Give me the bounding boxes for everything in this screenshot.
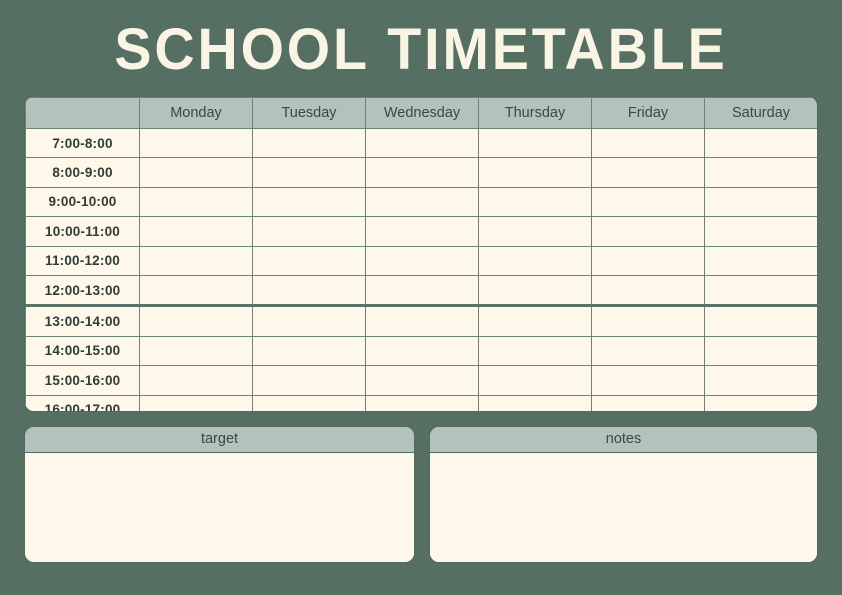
timetable-slot-cell[interactable] [253,217,366,246]
timetable-slot-cell[interactable] [592,366,705,395]
target-panel-title: target [25,427,414,453]
timetable-slot-cell[interactable] [705,366,818,395]
timetable-slot-cell[interactable] [479,395,592,411]
timetable-slot-cell[interactable] [705,217,818,246]
timetable-slot-cell[interactable] [140,306,253,336]
timetable-slot-cell[interactable] [140,366,253,395]
timetable-slot-cell[interactable] [705,306,818,336]
time-label: 12:00-13:00 [26,275,140,305]
target-panel: target [25,427,414,562]
timetable-slot-cell[interactable] [592,336,705,365]
timetable-slot-cell[interactable] [140,336,253,365]
timetable-row: 12:00-13:00 [26,275,818,305]
timetable-slot-cell[interactable] [479,275,592,305]
timetable-slot-cell[interactable] [592,129,705,158]
timetable-slot-cell[interactable] [592,246,705,275]
timetable-slot-cell[interactable] [366,129,479,158]
timetable-slot-cell[interactable] [366,246,479,275]
timetable-slot-cell[interactable] [592,158,705,187]
target-panel-body[interactable] [25,453,414,562]
timetable-slot-cell[interactable] [140,187,253,216]
timetable-slot-cell[interactable] [479,129,592,158]
timetable-slot-cell[interactable] [479,158,592,187]
timetable-row: 7:00-8:00 [26,129,818,158]
timetable-slot-cell[interactable] [479,217,592,246]
timetable-slot-cell[interactable] [705,336,818,365]
day-header-saturday[interactable]: Saturday [705,98,818,129]
time-label: 15:00-16:00 [26,366,140,395]
timetable-slot-cell[interactable] [140,395,253,411]
timetable-row: 15:00-16:00 [26,366,818,395]
timetable-slot-cell[interactable] [592,395,705,411]
time-label: 11:00-12:00 [26,246,140,275]
timetable-slot-cell[interactable] [592,275,705,305]
day-header-wednesday[interactable]: Wednesday [366,98,479,129]
timetable-slot-cell[interactable] [366,275,479,305]
time-label: 10:00-11:00 [26,217,140,246]
timetable-slot-cell[interactable] [366,158,479,187]
timetable-slot-cell[interactable] [253,366,366,395]
timetable-slot-cell[interactable] [253,187,366,216]
timetable-slot-cell[interactable] [366,336,479,365]
timetable-slot-cell[interactable] [253,336,366,365]
timetable-row: 8:00-9:00 [26,158,818,187]
timetable-slot-cell[interactable] [705,187,818,216]
day-header-friday[interactable]: Friday [592,98,705,129]
timetable-row: 11:00-12:00 [26,246,818,275]
timetable-slot-cell[interactable] [592,187,705,216]
timetable-row: 16:00-17:00 [26,395,818,411]
day-header-thursday[interactable]: Thursday [479,98,592,129]
timetable-slot-cell[interactable] [479,187,592,216]
timetable-slot-cell[interactable] [140,217,253,246]
timetable-container: MondayTuesdayWednesdayThursdayFridaySatu… [25,97,817,411]
timetable-slot-cell[interactable] [479,246,592,275]
timetable-slot-cell[interactable] [705,158,818,187]
timetable-slot-cell[interactable] [366,366,479,395]
time-label: 16:00-17:00 [26,395,140,411]
timetable-slot-cell[interactable] [705,275,818,305]
notes-panel: notes [430,427,817,562]
time-label: 14:00-15:00 [26,336,140,365]
timetable-row: 14:00-15:00 [26,336,818,365]
timetable-slot-cell[interactable] [140,275,253,305]
timetable-slot-cell[interactable] [140,129,253,158]
time-label: 8:00-9:00 [26,158,140,187]
timetable-slot-cell[interactable] [140,246,253,275]
timetable-slot-cell[interactable] [705,395,818,411]
notes-panel-body[interactable] [430,453,817,562]
timetable-slot-cell[interactable] [253,129,366,158]
timetable-slot-cell[interactable] [479,366,592,395]
timetable-slot-cell[interactable] [140,158,253,187]
timetable-slot-cell[interactable] [479,306,592,336]
timetable-slot-cell[interactable] [253,275,366,305]
timetable-slot-cell[interactable] [366,395,479,411]
page-title: SCHOOL TIMETABLE [17,18,825,82]
timetable-slot-cell[interactable] [253,158,366,187]
timetable-slot-cell[interactable] [366,306,479,336]
timetable-slot-cell[interactable] [253,306,366,336]
timetable: MondayTuesdayWednesdayThursdayFridaySatu… [25,97,817,411]
timetable-slot-cell[interactable] [479,336,592,365]
timetable-slot-cell[interactable] [705,246,818,275]
timetable-slot-cell[interactable] [705,129,818,158]
notes-panel-title: notes [430,427,817,453]
timetable-header-row: MondayTuesdayWednesdayThursdayFridaySatu… [26,98,818,129]
timetable-row: 10:00-11:00 [26,217,818,246]
time-label: 7:00-8:00 [26,129,140,158]
timetable-row: 13:00-14:00 [26,306,818,336]
timetable-slot-cell[interactable] [366,187,479,216]
timetable-slot-cell[interactable] [592,217,705,246]
timetable-slot-cell[interactable] [592,306,705,336]
timetable-slot-cell[interactable] [366,217,479,246]
timetable-row: 9:00-10:00 [26,187,818,216]
day-header-tuesday[interactable]: Tuesday [253,98,366,129]
timetable-slot-cell[interactable] [253,246,366,275]
time-label: 13:00-14:00 [26,306,140,336]
timetable-corner-header [26,98,140,129]
day-header-monday[interactable]: Monday [140,98,253,129]
time-label: 9:00-10:00 [26,187,140,216]
timetable-slot-cell[interactable] [253,395,366,411]
